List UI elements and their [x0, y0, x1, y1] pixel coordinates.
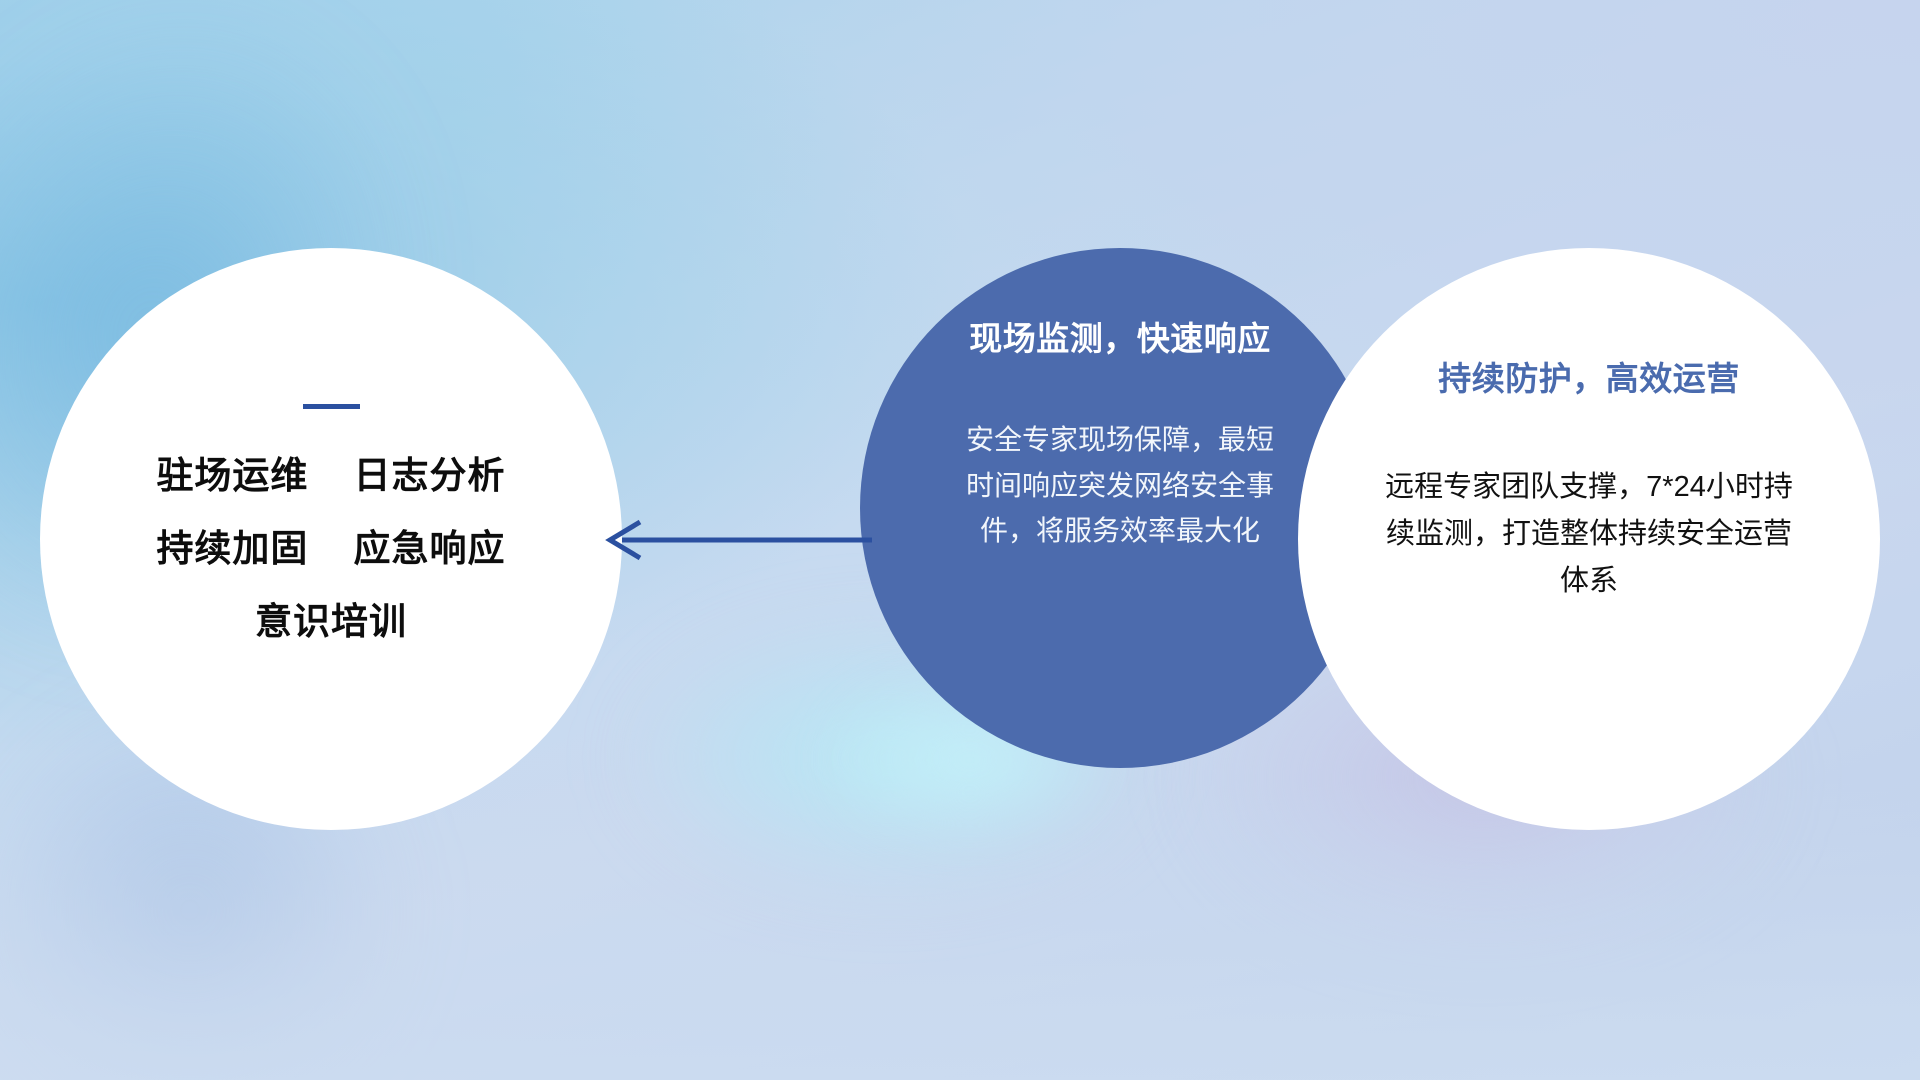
list-item: 驻场运维 日志分析: [40, 457, 622, 494]
list-item: 持续加固 应急响应: [40, 530, 622, 567]
service-circle-left-content: 驻场运维 日志分析 持续加固 应急响应 意识培训: [40, 248, 622, 830]
right-circle-body: 远程专家团队支撑，7*24小时持续监测，打造整体持续安全运营体系: [1379, 464, 1799, 605]
slide-canvas: 驻场运维 日志分析 持续加固 应急响应 意识培训 现场监测，快速响应 安全专家现…: [0, 0, 1920, 1080]
list-item: 意识培训: [40, 603, 622, 640]
service-list: 驻场运维 日志分析 持续加固 应急响应 意识培训: [40, 457, 622, 640]
service-circle-right-content: 持续防护，高效运营 远程专家团队支撑，7*24小时持续监测，打造整体持续安全运营…: [1298, 248, 1880, 830]
arrow-left-icon: [596, 516, 872, 564]
divider-rule: [303, 404, 360, 409]
middle-circle-title: 现场监测，快速响应: [969, 321, 1271, 357]
middle-circle-body: 安全专家现场保障，最短时间响应突发网络安全事件，将服务效率最大化: [955, 417, 1285, 553]
right-circle-title: 持续防护，高效运营: [1438, 361, 1740, 397]
